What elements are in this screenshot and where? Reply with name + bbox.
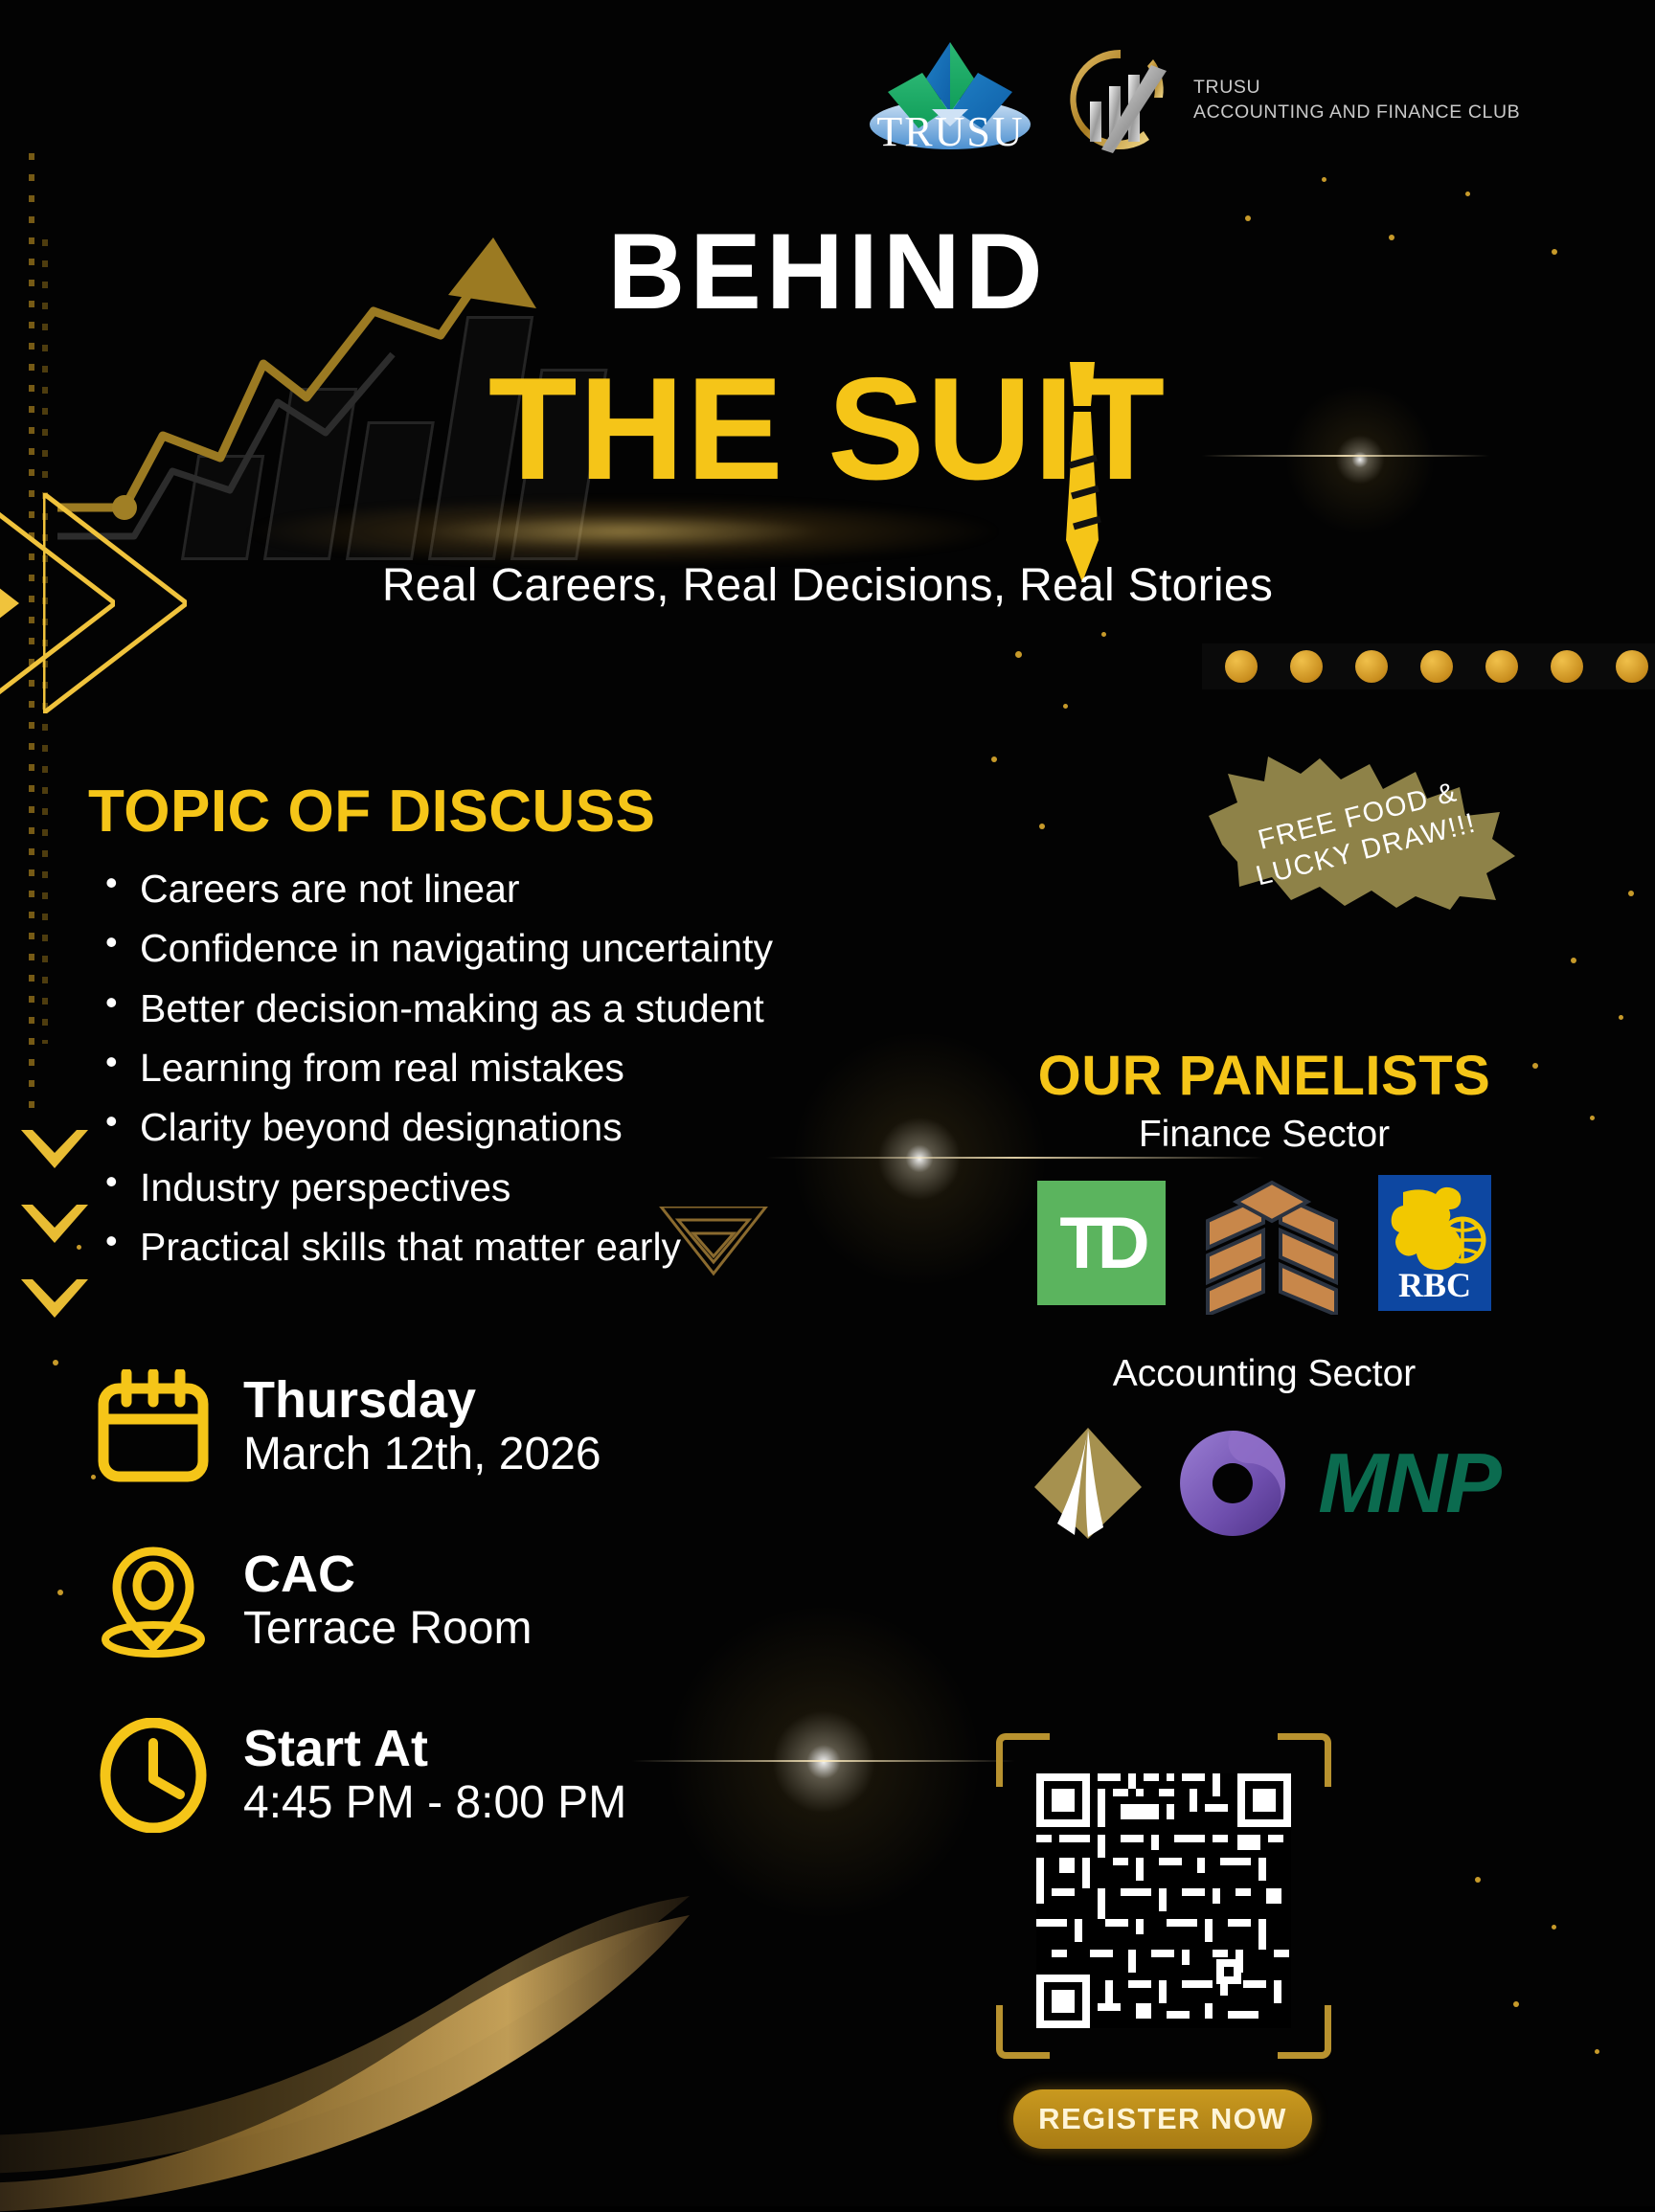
finance-sector-label: Finance Sector xyxy=(900,1114,1628,1156)
topics-heading: TOPIC OF DISCUSS xyxy=(88,778,969,846)
rbc-logo: RBC xyxy=(1378,1175,1491,1311)
list-item: Confidence in navigating uncertainty xyxy=(88,918,969,978)
crowe-logo xyxy=(1176,1427,1289,1540)
detail-date: Thursday March 12th, 2026 xyxy=(96,1369,881,1484)
subtitle: Real Careers, Real Decisions, Real Stori… xyxy=(0,559,1655,612)
detail-date-text: Thursday March 12th, 2026 xyxy=(243,1372,601,1482)
afc-line1: TRUSU xyxy=(1193,76,1520,101)
afc-club-text: TRUSU ACCOUNTING AND FINANCE CLUB xyxy=(1193,76,1520,124)
afc-line2: ACCOUNTING AND FINANCE CLUB xyxy=(1193,101,1520,125)
badge-text: FREE FOOD & LUCKY DRAW!!! xyxy=(1194,722,1529,945)
register-now-button[interactable]: REGISTER NOW xyxy=(1013,2089,1312,2149)
event-details: Thursday March 12th, 2026 CAC Terrace Ro… xyxy=(96,1369,881,1892)
accounting-logo-row: MNP xyxy=(900,1424,1628,1543)
event-poster: TRUSU TRUSU xyxy=(0,0,1655,2206)
title-line1: BEHIND xyxy=(0,218,1655,326)
detail-location: CAC Terrace Room xyxy=(96,1544,881,1659)
detail-time-label: Start At xyxy=(243,1721,626,1776)
detail-date-value: March 12th, 2026 xyxy=(243,1428,601,1482)
list-item: Practical skills that matter early xyxy=(88,1217,969,1276)
finance-logo-row: TD xyxy=(900,1171,1628,1315)
panelists-heading: OUR PANELISTS xyxy=(900,1044,1628,1108)
td-bank-logo: TD xyxy=(1037,1181,1166,1305)
calendar-icon xyxy=(96,1369,211,1484)
topics-list: Careers are not linear Confidence in nav… xyxy=(88,859,969,1276)
list-item: Careers are not linear xyxy=(88,859,969,918)
panelists-section: OUR PANELISTS Finance Sector TD xyxy=(900,1044,1628,1543)
afc-mark-icon xyxy=(1059,42,1182,159)
accounting-finance-club-logo: TRUSU ACCOUNTING AND FINANCE CLUB xyxy=(1059,42,1520,159)
header-logos: TRUSU TRUSU xyxy=(867,36,1520,159)
list-item: Better decision-making as a student xyxy=(88,979,969,1038)
detail-location-room: Terrace Room xyxy=(243,1602,532,1657)
mnp-wordmark: MNP xyxy=(1318,1441,1500,1525)
rbc-wordmark: RBC xyxy=(1398,1265,1471,1305)
title-line2-wrap: THE SUIT xyxy=(0,356,1655,502)
swoosh-decoration xyxy=(0,1896,824,2212)
list-item: Learning from real mistakes xyxy=(88,1038,969,1097)
trusu-wordmark: TRUSU xyxy=(867,111,1034,153)
detail-time-value: 4:45 PM - 8:00 PM xyxy=(243,1776,626,1831)
detail-time: Start At 4:45 PM - 8:00 PM xyxy=(96,1718,881,1833)
free-food-badge: FREE FOOD & LUCKY DRAW!!! xyxy=(1209,756,1515,910)
location-pin-icon xyxy=(96,1544,211,1659)
registration-block[interactable]: REGISTER NOW xyxy=(996,1733,1331,2155)
qr-code[interactable] xyxy=(1036,1773,1291,2028)
td-wordmark: TD xyxy=(1059,1202,1143,1285)
grant-thornton-logo xyxy=(1029,1424,1147,1543)
list-item: Industry perspectives xyxy=(88,1158,969,1217)
accounting-sector-label: Accounting Sector xyxy=(900,1353,1628,1395)
list-item: Clarity beyond designations xyxy=(88,1097,969,1157)
detail-time-text: Start At 4:45 PM - 8:00 PM xyxy=(243,1721,626,1831)
scotiabank-logo xyxy=(1200,1171,1344,1315)
detail-location-text: CAC Terrace Room xyxy=(243,1546,532,1657)
gold-dot-strip xyxy=(1202,643,1655,689)
clock-icon xyxy=(96,1718,211,1833)
topics-section: TOPIC OF DISCUSS Careers are not linear … xyxy=(88,778,969,1276)
trusu-logo: TRUSU xyxy=(867,36,1034,149)
detail-date-day: Thursday xyxy=(243,1372,601,1428)
detail-location-building: CAC xyxy=(243,1546,532,1602)
